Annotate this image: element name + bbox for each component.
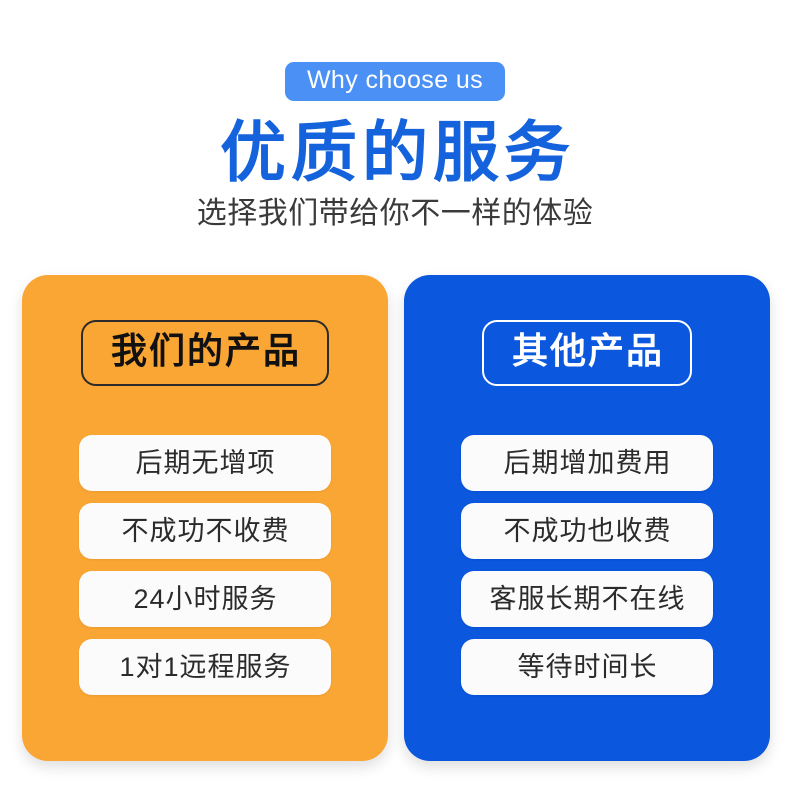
list-item: 等待时间长 xyxy=(461,639,713,695)
list-item: 后期增加费用 xyxy=(461,435,713,491)
list-item: 不成功也收费 xyxy=(461,503,713,559)
comparison-cards: 我们的产品 后期无增项 不成功不收费 24小时服务 1对1远程服务 其他产品 后… xyxy=(22,275,770,761)
promo-comparison-page: Why choose us 优质的服务 选择我们带给你不一样的体验 我们的产品 … xyxy=(0,0,790,798)
list-item: 后期无增项 xyxy=(79,435,331,491)
card-other-products: 其他产品 后期增加费用 不成功也收费 客服长期不在线 等待时间长 xyxy=(404,275,770,761)
card-our-products-heading: 我们的产品 xyxy=(81,320,329,386)
list-item: 24小时服务 xyxy=(79,571,331,627)
page-subtitle: 选择我们带给你不一样的体验 xyxy=(0,195,790,233)
list-item: 不成功不收费 xyxy=(79,503,331,559)
page-header: Why choose us 优质的服务 选择我们带给你不一样的体验 xyxy=(0,0,790,233)
page-title: 优质的服务 xyxy=(0,115,790,189)
card-our-products-list: 后期无增项 不成功不收费 24小时服务 1对1远程服务 xyxy=(22,435,388,695)
card-other-products-heading: 其他产品 xyxy=(482,320,692,386)
card-other-products-list: 后期增加费用 不成功也收费 客服长期不在线 等待时间长 xyxy=(404,435,770,695)
why-choose-us-badge: Why choose us xyxy=(285,62,505,101)
list-item: 1对1远程服务 xyxy=(79,639,331,695)
list-item: 客服长期不在线 xyxy=(461,571,713,627)
card-our-products: 我们的产品 后期无增项 不成功不收费 24小时服务 1对1远程服务 xyxy=(22,275,388,761)
